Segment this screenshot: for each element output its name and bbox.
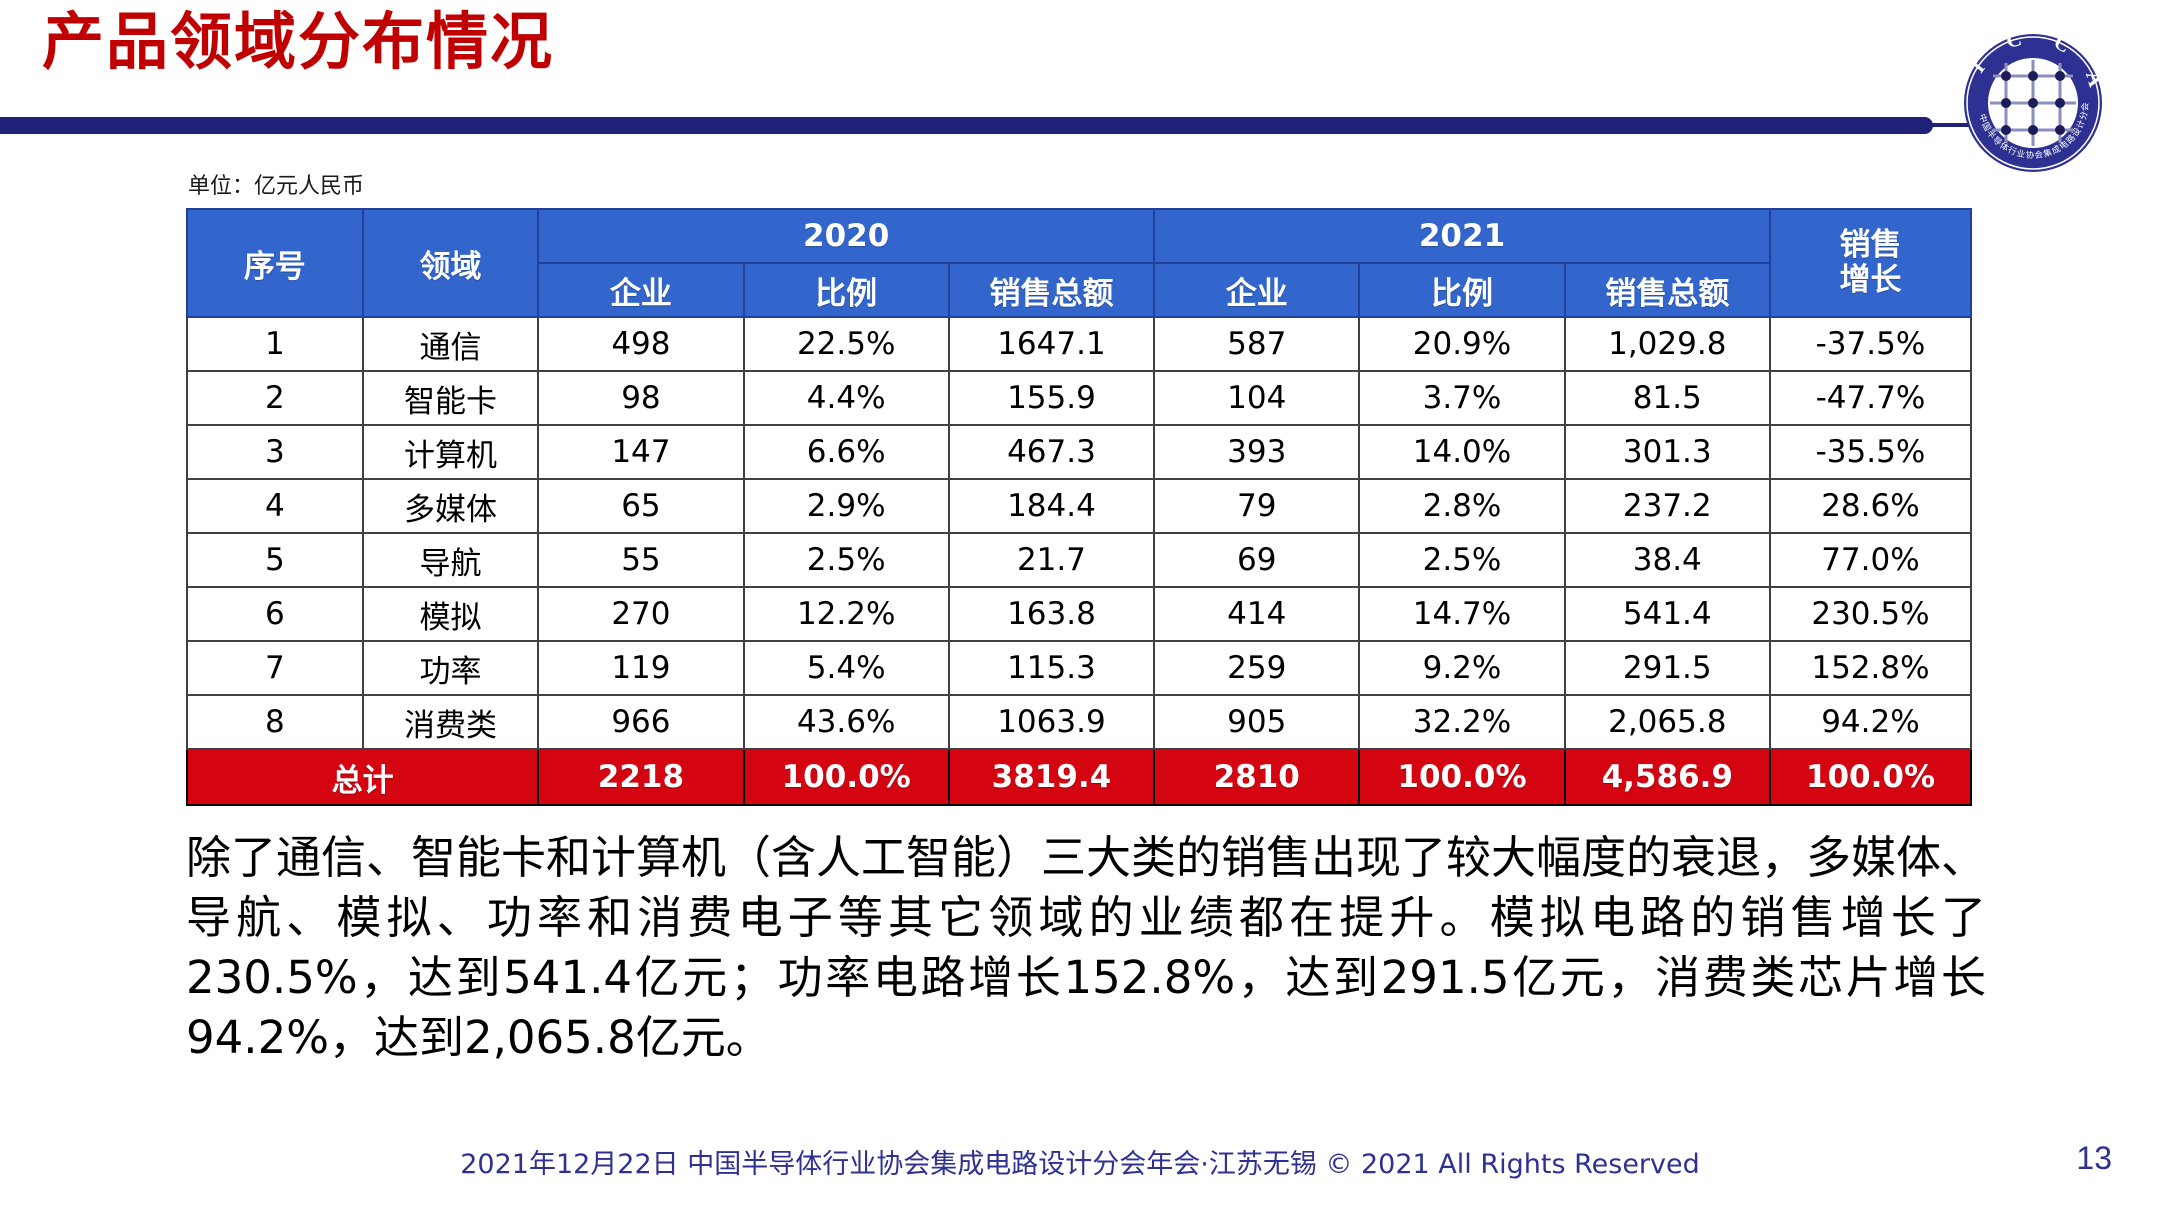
cell-2021-ratio: 32.2% <box>1359 695 1564 749</box>
cell-total-2021-ratio: 100.0% <box>1359 749 1564 805</box>
cell-total-2020-sales: 3819.4 <box>949 749 1154 805</box>
cell-2021-enterprises: 104 <box>1154 371 1359 425</box>
cell-2020-ratio: 22.5% <box>744 317 949 371</box>
col-header-2020-ratio: 比例 <box>744 263 949 317</box>
cell-total-2021-enterprises: 2810 <box>1154 749 1359 805</box>
cell-2020-enterprises: 65 <box>538 479 743 533</box>
col-header-sales-growth: 销售 增长 <box>1770 209 1971 317</box>
cell-seq: 3 <box>187 425 363 479</box>
col-header-sales-growth-line1: 销售 <box>1771 228 1970 263</box>
table-total-row: 总计 2218 100.0% 3819.4 2810 100.0% 4,586.… <box>187 749 1971 805</box>
cell-domain: 通信 <box>363 317 539 371</box>
cell-total-2020-ratio: 100.0% <box>744 749 949 805</box>
table-row: 2 智能卡 98 4.4% 155.9 104 3.7% 81.5 -47.7% <box>187 371 1971 425</box>
cell-2020-sales: 163.8 <box>949 587 1154 641</box>
cell-sales-growth: -37.5% <box>1770 317 1971 371</box>
cell-2020-sales: 467.3 <box>949 425 1154 479</box>
cell-2020-sales: 155.9 <box>949 371 1154 425</box>
cell-2021-ratio: 9.2% <box>1359 641 1564 695</box>
product-domain-table: 序号 领域 2020 2021 销售 增长 企业 比例 销售总额 企业 比例 销… <box>186 208 1972 806</box>
cell-total-2020-enterprises: 2218 <box>538 749 743 805</box>
table-header-row-1: 序号 领域 2020 2021 销售 增长 <box>187 209 1971 263</box>
cell-2021-ratio: 2.8% <box>1359 479 1564 533</box>
cell-2021-enterprises: 393 <box>1154 425 1359 479</box>
cell-2020-ratio: 12.2% <box>744 587 949 641</box>
col-header-year-2020: 2020 <box>538 209 1154 263</box>
col-header-sales-growth-line2: 增长 <box>1771 263 1970 298</box>
cell-2021-enterprises: 69 <box>1154 533 1359 587</box>
cell-domain: 消费类 <box>363 695 539 749</box>
title-underline-bar <box>0 117 1933 134</box>
cell-domain: 多媒体 <box>363 479 539 533</box>
cell-2020-enterprises: 966 <box>538 695 743 749</box>
cell-2021-ratio: 20.9% <box>1359 317 1564 371</box>
col-header-2021-ratio: 比例 <box>1359 263 1564 317</box>
table-row: 6 模拟 270 12.2% 163.8 414 14.7% 541.4 230… <box>187 587 1971 641</box>
cell-2020-enterprises: 119 <box>538 641 743 695</box>
col-header-2020-sales: 销售总额 <box>949 263 1154 317</box>
table-body: 1 通信 498 22.5% 1647.1 587 20.9% 1,029.8 … <box>187 317 1971 805</box>
cell-sales-growth: -35.5% <box>1770 425 1971 479</box>
unit-caption: 单位：亿元人民币 <box>188 168 364 200</box>
slide-footer: 2021年12月22日 中国半导体行业协会集成电路设计分会年会·江苏无锡 © 2… <box>0 1142 2160 1181</box>
slide-header: 产品领域分布情况 <box>0 0 2160 140</box>
page-number: 13 <box>2076 1140 2112 1177</box>
cell-sales-growth: 94.2% <box>1770 695 1971 749</box>
cell-2020-sales: 1647.1 <box>949 317 1154 371</box>
cell-seq: 2 <box>187 371 363 425</box>
cell-seq: 5 <box>187 533 363 587</box>
cell-2021-sales: 38.4 <box>1565 533 1770 587</box>
cell-domain: 计算机 <box>363 425 539 479</box>
cell-total-2021-sales: 4,586.9 <box>1565 749 1770 805</box>
cell-2021-enterprises: 587 <box>1154 317 1359 371</box>
iccad-logo: I C C A D 中国半导体行业协会集成电路设计分会 <box>1948 18 2118 188</box>
col-header-2021-enterprises: 企业 <box>1154 263 1359 317</box>
cell-2020-sales: 115.3 <box>949 641 1154 695</box>
cell-2020-ratio: 2.5% <box>744 533 949 587</box>
cell-2021-enterprises: 79 <box>1154 479 1359 533</box>
cell-seq: 1 <box>187 317 363 371</box>
cell-2021-ratio: 3.7% <box>1359 371 1564 425</box>
cell-2021-sales: 291.5 <box>1565 641 1770 695</box>
table-row: 3 计算机 147 6.6% 467.3 393 14.0% 301.3 -35… <box>187 425 1971 479</box>
body-paragraph: 除了通信、智能卡和计算机（含人工智能）三大类的销售出现了较大幅度的衰退，多媒体、… <box>186 828 1986 1068</box>
page-title: 产品领域分布情况 <box>42 12 554 74</box>
cell-seq: 4 <box>187 479 363 533</box>
cell-total-label: 总计 <box>187 749 538 805</box>
table-row: 1 通信 498 22.5% 1647.1 587 20.9% 1,029.8 … <box>187 317 1971 371</box>
cell-domain: 功率 <box>363 641 539 695</box>
cell-2020-enterprises: 55 <box>538 533 743 587</box>
cell-sales-growth: 77.0% <box>1770 533 1971 587</box>
cell-2020-ratio: 5.4% <box>744 641 949 695</box>
cell-2020-ratio: 2.9% <box>744 479 949 533</box>
cell-seq: 7 <box>187 641 363 695</box>
col-header-2021-sales: 销售总额 <box>1565 263 1770 317</box>
cell-2021-ratio: 14.0% <box>1359 425 1564 479</box>
cell-sales-growth: 28.6% <box>1770 479 1971 533</box>
cell-domain: 模拟 <box>363 587 539 641</box>
cell-2020-enterprises: 98 <box>538 371 743 425</box>
cell-2020-sales: 21.7 <box>949 533 1154 587</box>
cell-total-sales-growth: 100.0% <box>1770 749 1971 805</box>
cell-2021-sales: 2,065.8 <box>1565 695 1770 749</box>
cell-2021-sales: 1,029.8 <box>1565 317 1770 371</box>
cell-2020-enterprises: 147 <box>538 425 743 479</box>
cell-2021-sales: 237.2 <box>1565 479 1770 533</box>
cell-2021-sales: 541.4 <box>1565 587 1770 641</box>
col-header-seq: 序号 <box>187 209 363 317</box>
cell-2020-ratio: 4.4% <box>744 371 949 425</box>
cell-sales-growth: 230.5% <box>1770 587 1971 641</box>
table-row: 8 消费类 966 43.6% 1063.9 905 32.2% 2,065.8… <box>187 695 1971 749</box>
cell-domain: 导航 <box>363 533 539 587</box>
cell-domain: 智能卡 <box>363 371 539 425</box>
cell-seq: 8 <box>187 695 363 749</box>
col-header-domain: 领域 <box>363 209 539 317</box>
cell-2020-enterprises: 498 <box>538 317 743 371</box>
cell-seq: 6 <box>187 587 363 641</box>
col-header-2020-enterprises: 企业 <box>538 263 743 317</box>
cell-2020-enterprises: 270 <box>538 587 743 641</box>
table-row: 7 功率 119 5.4% 115.3 259 9.2% 291.5 152.8… <box>187 641 1971 695</box>
product-domain-table-wrapper: 序号 领域 2020 2021 销售 增长 企业 比例 销售总额 企业 比例 销… <box>186 208 1972 806</box>
cell-2020-ratio: 43.6% <box>744 695 949 749</box>
cell-2021-enterprises: 259 <box>1154 641 1359 695</box>
cell-sales-growth: -47.7% <box>1770 371 1971 425</box>
cell-2021-ratio: 14.7% <box>1359 587 1564 641</box>
cell-2021-sales: 81.5 <box>1565 371 1770 425</box>
col-header-year-2021: 2021 <box>1154 209 1770 263</box>
cell-2020-sales: 1063.9 <box>949 695 1154 749</box>
cell-2021-sales: 301.3 <box>1565 425 1770 479</box>
cell-2020-ratio: 6.6% <box>744 425 949 479</box>
cell-sales-growth: 152.8% <box>1770 641 1971 695</box>
cell-2021-enterprises: 905 <box>1154 695 1359 749</box>
cell-2021-ratio: 2.5% <box>1359 533 1564 587</box>
cell-2020-sales: 184.4 <box>949 479 1154 533</box>
table-row: 5 导航 55 2.5% 21.7 69 2.5% 38.4 77.0% <box>187 533 1971 587</box>
cell-2021-enterprises: 414 <box>1154 587 1359 641</box>
table-row: 4 多媒体 65 2.9% 184.4 79 2.8% 237.2 28.6% <box>187 479 1971 533</box>
